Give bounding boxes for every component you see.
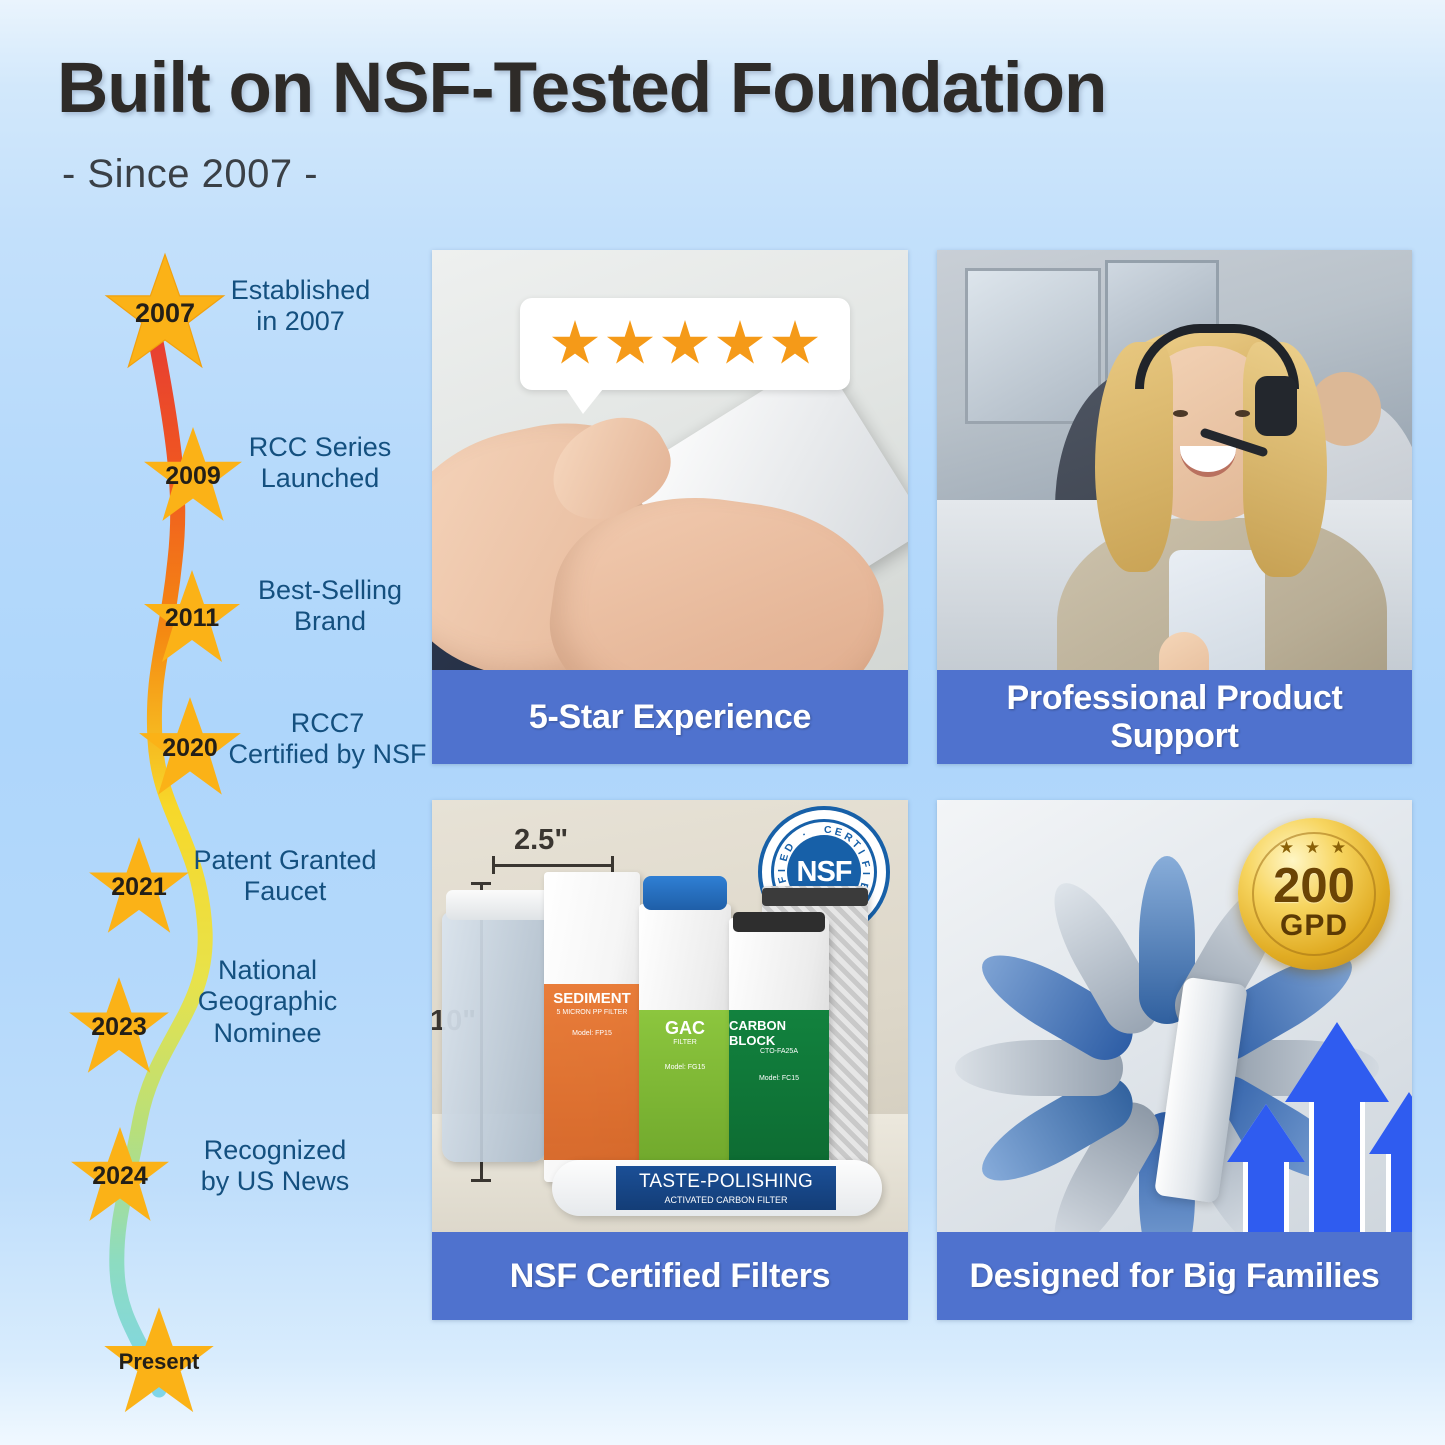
timeline-label-2023: National Geographic Nominee [160,955,375,1049]
card-caption-five-star: 5-Star Experience [432,670,908,764]
taste-polishing-label: TASTE-POLISHING ACTIVATED CARBON FILTER [616,1166,836,1210]
star-icon [771,320,819,368]
star-icon [100,1305,218,1419]
timeline-star-2023: 2023 [65,975,173,1079]
star-icon [140,568,244,668]
agent-eye [1173,410,1188,417]
card-big-families[interactable]: ★ ★ ★ 200 GPD Designed for Big Families [937,800,1412,1320]
gac-blue-cap [643,876,727,910]
dimension-width-label: 2.5" [514,824,568,857]
star-icon [65,975,173,1079]
star-icon [661,320,709,368]
cartridge-name-text: GAC [665,1018,705,1039]
card-caption-support: Professional Product Support [937,670,1412,764]
badge-stars: ★ ★ ★ [1238,838,1390,858]
star-icon [606,320,654,368]
cartridge-sediment: SEDIMENT SEDIMENT 5 MICRON PP FILTER Mod… [544,872,640,1182]
width-dimension-line [492,864,614,867]
card-caption-big-families: Designed for Big Families [937,1232,1412,1320]
capacity-badge: ★ ★ ★ 200 GPD [1238,818,1390,970]
timeline-ribbon-path [55,240,445,1420]
timeline-label-2021: Patent Granted Faucet [165,845,405,908]
star-icon [67,1125,173,1227]
agent-eye [1235,410,1250,417]
infographic-page: Built on NSF-Tested Foundation - Since 2… [0,0,1445,1445]
height-tick [471,882,491,885]
card-nsf-certified-filters[interactable]: NSF CERTIFIED · CERTIFIED · 2.5" 10" SED… [432,800,908,1320]
timeline-label-2011: Best-Selling Brand [230,575,430,638]
page-title: Built on NSF-Tested Foundation [57,52,1317,127]
cartridge-carbon-block: CARBON BLOCK CTO-FA25A Model: FC15 [729,918,829,1182]
growth-arrow-medium [1369,1092,1412,1232]
timeline-star-2024: 2024 [67,1125,173,1227]
card-photo-capacity: ★ ★ ★ 200 GPD [937,800,1412,1232]
card-photo-support-agent [937,250,1412,670]
office-window [965,268,1101,424]
timeline-label-2007: Established in 2007 [193,275,408,338]
timeline-label-2020: RCC7 Certified by NSF [210,708,445,771]
headset-earcup [1255,376,1297,436]
timeline-star-2011: 2011 [140,568,244,668]
cartridge-sub: FILTER [673,1039,697,1046]
cartridge-model: Model: FG15 [665,1064,705,1071]
clear-filter-housing [442,912,546,1162]
card-five-star-experience[interactable]: 5-Star Experience [432,250,908,764]
page-subtitle: - Since 2007 - [62,152,318,197]
card-photo-filter-cartridges: NSF CERTIFIED · CERTIFIED · 2.5" 10" SED… [432,800,908,1232]
cartridge-model: Model: FP15 [572,1030,612,1037]
timeline-label-2009: RCC Series Launched [220,432,420,495]
cartridge-name-text: CARBON BLOCK [729,1018,829,1048]
company-timeline: 2007 Established in 2007 2009 RCC Series… [55,240,445,1420]
rating-bubble [520,298,850,390]
width-tick [492,856,495,874]
carbon-block-cap [733,912,825,932]
card-caption-nsf-filters: NSF Certified Filters [432,1232,908,1320]
cartridge-gac: GAC FILTER Model: FG15 [639,904,731,1182]
cartridge-sub: ACTIVATED CARBON FILTER [664,1195,787,1205]
cartridge-sub: CTO-FA25A [760,1048,798,1055]
card-photo-phone-review [432,250,908,670]
star-icon [716,320,764,368]
cartridge-name-text: TASTE-POLISHING [639,1171,813,1193]
cartridge-name-text: SEDIMENT [553,990,631,1007]
height-tick [471,1179,491,1182]
card-product-support[interactable]: Professional Product Support [937,250,1412,764]
star-icon [551,320,599,368]
timeline-star-present: Present [100,1305,218,1419]
timeline-label-2024: Recognized by US News [165,1135,385,1198]
cartridge-sub: 5 MICRON PP FILTER [557,1009,628,1016]
cartridge-taste-polishing: TASTE-POLISHING ACTIVATED CARBON FILTER [552,1160,882,1216]
cartridge-model: Model: FC15 [759,1075,799,1082]
